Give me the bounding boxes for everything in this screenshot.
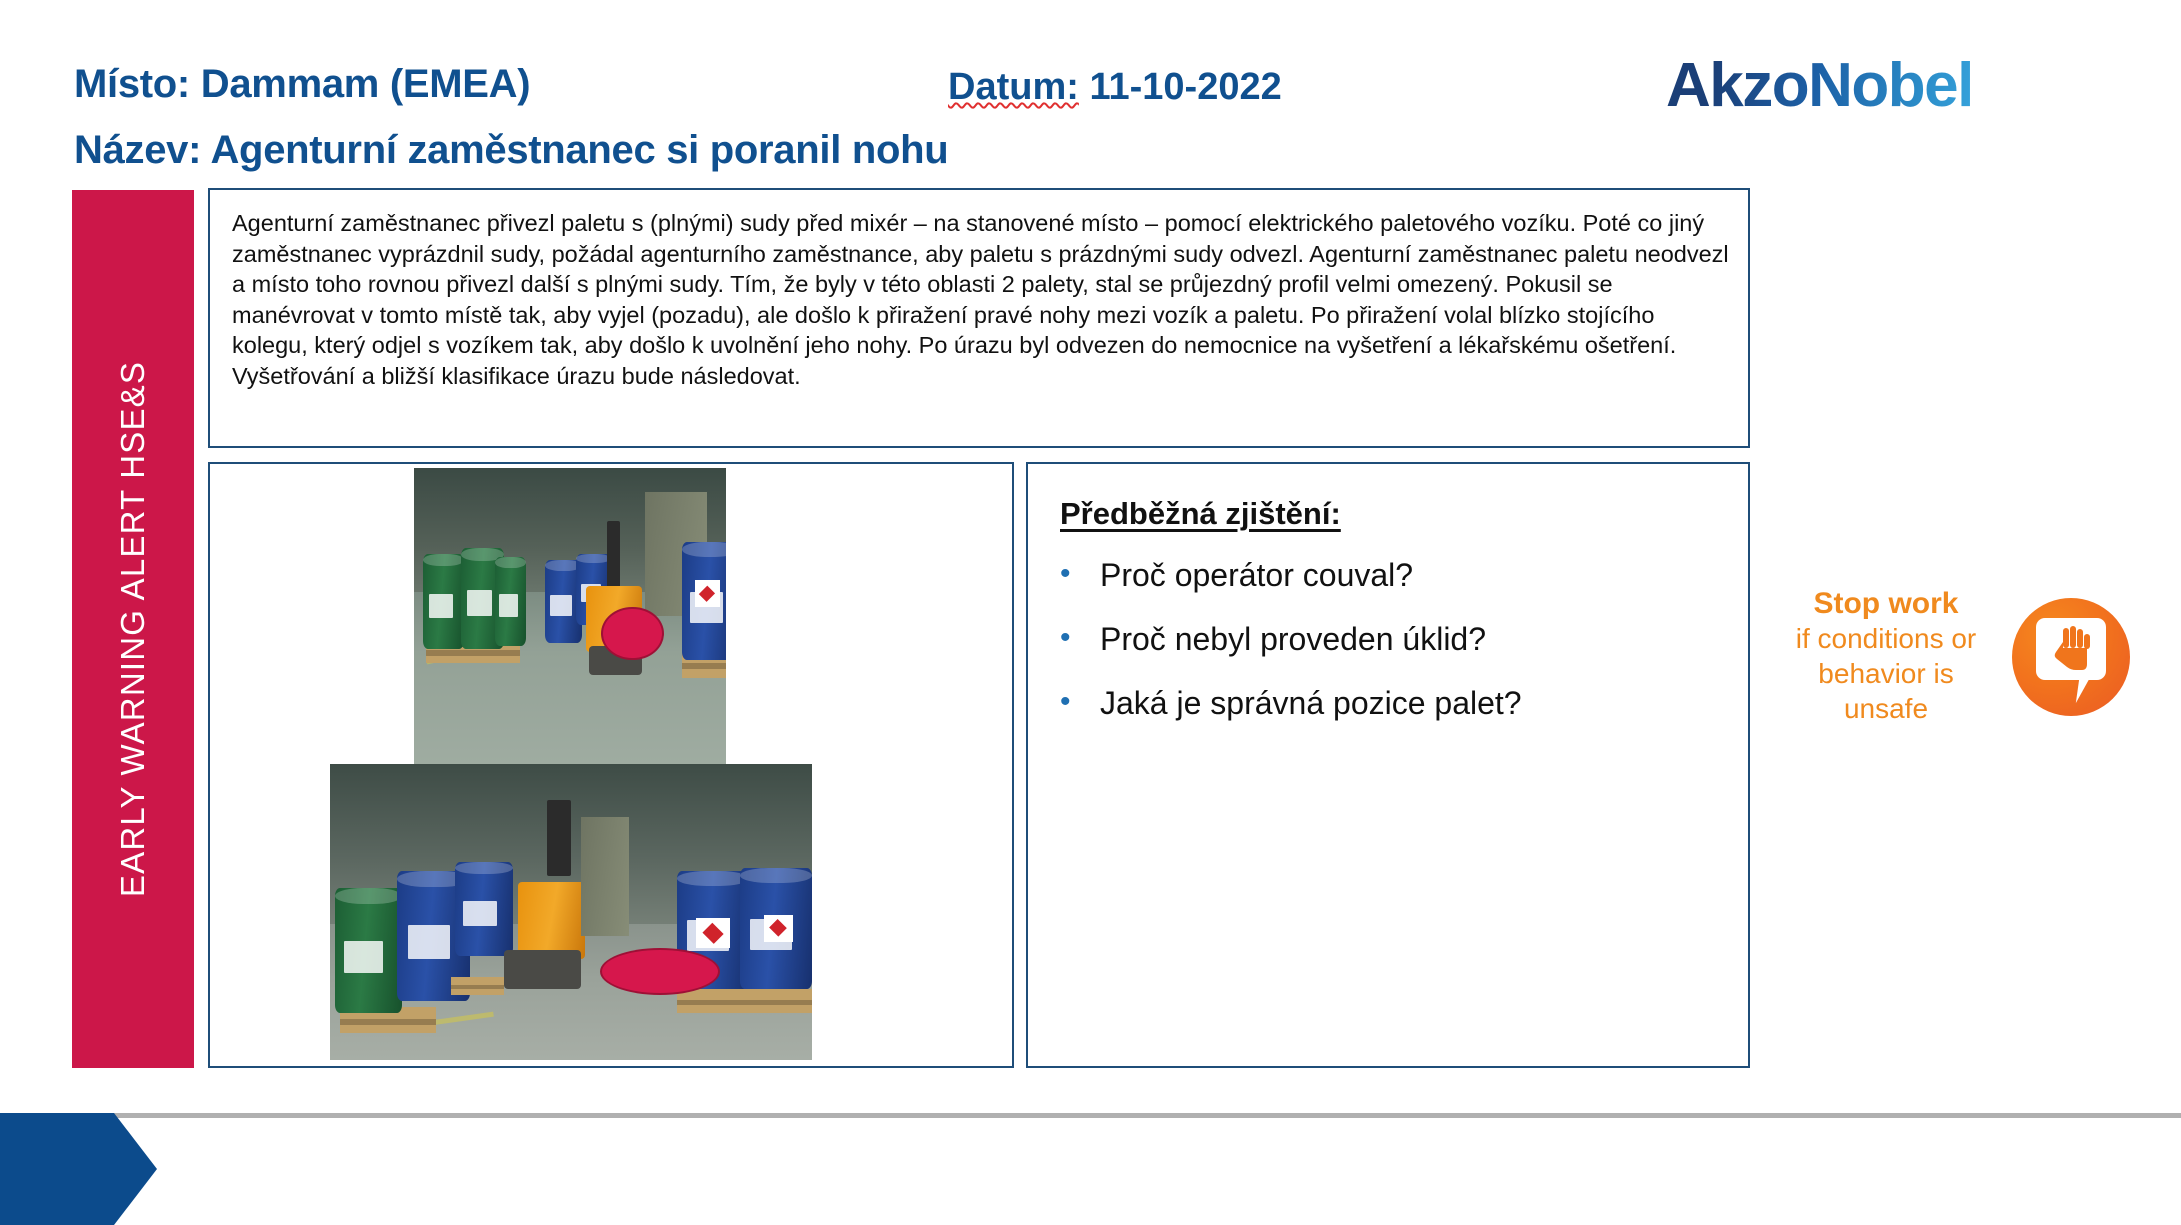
- finding-label: Jaká je správná pozice palet?: [1100, 684, 1522, 722]
- bottom-rule: [0, 1113, 2181, 1118]
- incident-photo-wide: [414, 468, 726, 764]
- slide-root: Místo: Dammam (EMEA) Datum: 11-10-2022 N…: [0, 0, 2181, 1225]
- bullet-icon: •: [1060, 556, 1100, 592]
- list-item: • Proč operátor couval?: [1060, 556, 1732, 594]
- early-warning-banner: EARLY WARNING ALERT HSE&S: [72, 190, 194, 1068]
- date-value: 11-10-2022: [1079, 66, 1282, 108]
- stop-hand-speech-bubble-icon: [2012, 598, 2130, 716]
- incident-marker: [601, 607, 663, 660]
- bullet-icon: •: [1060, 684, 1100, 720]
- page-title: Název: Agenturní zaměstnanec si poranil …: [74, 128, 948, 173]
- finding-label: Proč operátor couval?: [1100, 556, 1413, 594]
- date-heading: Datum: 11-10-2022: [948, 66, 1282, 109]
- place-heading: Místo: Dammam (EMEA): [74, 62, 530, 107]
- list-item: • Jaká je správná pozice palet?: [1060, 684, 1732, 722]
- findings-box: Předběžná zjištění: • Proč operátor couv…: [1026, 462, 1750, 1068]
- findings-title: Předběžná zjištění:: [1060, 496, 1341, 532]
- stop-work-line4: unsafe: [1786, 691, 1986, 726]
- list-item: • Proč nebyl proveden úklid?: [1060, 620, 1732, 658]
- findings-list: • Proč operátor couval? • Proč nebyl pro…: [1060, 556, 1732, 748]
- incident-marker: [600, 948, 721, 995]
- banner-label: EARLY WARNING ALERT HSE&S: [114, 361, 152, 897]
- incident-photo-close: [330, 764, 812, 1060]
- akzonobel-logo: AkzoNobel: [1666, 50, 1973, 121]
- finding-label: Proč nebyl proveden úklid?: [1100, 620, 1486, 658]
- date-label: Datum:: [948, 66, 1079, 108]
- description-box: Agenturní zaměstnanec přivezl paletu s (…: [208, 188, 1750, 448]
- stop-work-line1: Stop work: [1786, 586, 1986, 621]
- description-text: Agenturní zaměstnanec přivezl paletu s (…: [232, 208, 1730, 392]
- bullet-icon: •: [1060, 620, 1100, 656]
- stop-work-line3: behavior is: [1786, 656, 1986, 691]
- hand-icon: [2050, 626, 2094, 674]
- stop-work-text: Stop work if conditions or behavior is u…: [1786, 586, 1986, 726]
- bottom-chevron-decoration: [0, 1113, 157, 1225]
- stop-work-line2: if conditions or: [1786, 621, 1986, 656]
